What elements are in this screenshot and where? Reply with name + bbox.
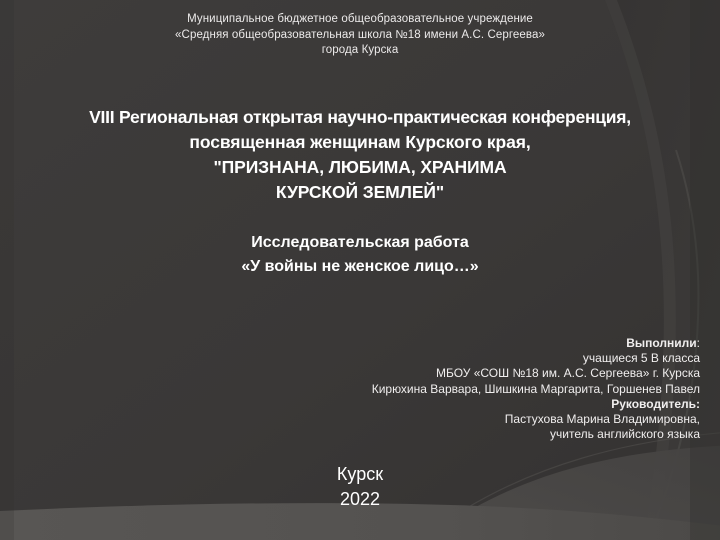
footer-year: 2022 (0, 487, 720, 512)
conference-title-line-2: посвященная женщинам Курского края, (0, 130, 720, 155)
institution-header: Муниципальное бюджетное общеобразователь… (0, 12, 720, 59)
slide-footer: Курск 2022 (0, 462, 720, 512)
footer-city: Курск (0, 462, 720, 487)
authors-block: Выполнили: учащиеся 5 В класса МБОУ «СОШ… (0, 336, 700, 442)
institution-line-1: Муниципальное бюджетное общеобразователь… (0, 12, 720, 28)
work-subtitle: Исследовательская работа «У войны не жен… (0, 231, 720, 279)
institution-line-3: города Курска (0, 43, 720, 59)
institution-line-2: «Средняя общеобразовательная школа №18 и… (0, 28, 720, 44)
work-title: «У войны не женское лицо…» (0, 255, 720, 279)
performed-by-label: Выполнили (626, 336, 696, 350)
performed-by-row: Выполнили: (0, 336, 700, 351)
performed-by-colon: : (697, 336, 700, 350)
work-type-label: Исследовательская работа (0, 231, 720, 255)
authors-school: МБОУ «СОШ №18 им. А.С. Сергеева» г. Курс… (0, 366, 700, 381)
supervisor-name: Пастухова Марина Владимировна, (0, 412, 700, 427)
conference-title: VIII Региональная открытая научно-практи… (0, 105, 720, 205)
conference-title-line-1: VIII Региональная открытая научно-практи… (0, 105, 720, 130)
conference-title-line-4: КУРСКОЙ ЗЕМЛЕЙ" (0, 180, 720, 205)
supervisor-role: учитель английского языка (0, 427, 700, 442)
supervisor-label: Руководитель: (0, 397, 700, 412)
authors-class: учащиеся 5 В класса (0, 351, 700, 366)
conference-title-line-3: "ПРИЗНАНА, ЛЮБИМА, ХРАНИМА (0, 155, 720, 180)
presentation-title-slide: Муниципальное бюджетное общеобразователь… (0, 0, 720, 540)
authors-names: Кирюхина Варвара, Шишкина Маргарита, Гор… (0, 382, 700, 397)
